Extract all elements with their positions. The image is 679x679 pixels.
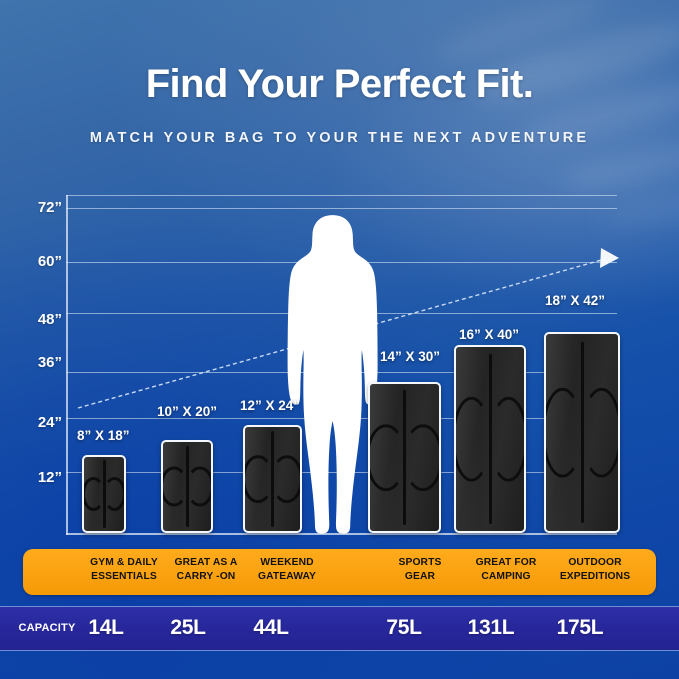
- bag-dimension-label: 12” X 24”: [240, 398, 300, 413]
- bag-dimension-label: 18” X 42”: [545, 293, 605, 308]
- capacity-value-4: 75L: [368, 616, 440, 640]
- capacity-value-5: 131L: [452, 616, 530, 640]
- category-weekend-gateaway: WEEKEND GATEAWAY: [231, 556, 343, 583]
- bag-bar-44L[interactable]: [243, 425, 302, 533]
- bag-strap-icon: [271, 431, 274, 527]
- category-bar: GYM & DAILY ESSENTIALS GREAT AS A CARRY …: [23, 549, 656, 595]
- bag-bar-131L[interactable]: [454, 345, 526, 533]
- capacity-band: CAPACITY 14L 25L 44L 75L 131L 175L: [0, 606, 679, 651]
- bag-strap-icon: [403, 390, 406, 525]
- y-tick-label-60: 60”: [2, 253, 62, 270]
- bag-dimension-label: 14” X 30”: [380, 349, 440, 364]
- y-tick-label-12: 12”: [2, 469, 62, 486]
- category-line-2: EXPEDITIONS: [542, 570, 648, 584]
- bag-arc-right-icon: [581, 387, 620, 478]
- bag-bar-25L[interactable]: [161, 440, 213, 533]
- capacity-value-2: 25L: [152, 616, 224, 640]
- bag-strap-icon: [103, 460, 106, 528]
- bag-arc-left-icon: [544, 387, 583, 478]
- infographic-canvas: Find Your Perfect Fit. MATCH YOUR BAG TO…: [0, 0, 679, 679]
- bag-arc-right-icon: [403, 424, 441, 492]
- y-tick-label-36: 36”: [2, 354, 62, 371]
- bag-strap-icon: [186, 446, 189, 528]
- bag-arc-right-icon: [103, 477, 126, 511]
- bag-arc-left-icon: [454, 397, 491, 482]
- bag-dimension-label: 10” X 20”: [157, 404, 217, 419]
- bag-arc-left-icon: [243, 455, 274, 503]
- y-tick-label-72: 72”: [2, 199, 62, 216]
- bag-dimension-label: 16” X 40”: [459, 327, 519, 342]
- category-line-1: WEEKEND: [231, 556, 343, 570]
- bag-arc-left-icon: [368, 424, 406, 492]
- y-tick-label-48: 48”: [2, 311, 62, 328]
- gridline-72in: [66, 208, 617, 209]
- bag-arc-right-icon: [186, 466, 213, 507]
- y-tick-label-24: 24”: [2, 414, 62, 431]
- bag-bar-175L[interactable]: [544, 332, 620, 533]
- bag-bar-14L[interactable]: [82, 455, 126, 533]
- category-outdoor-expeditions: OUTDOOR EXPEDITIONS: [542, 556, 648, 583]
- bag-strap-icon: [581, 342, 584, 523]
- bag-dimension-label: 8” X 18”: [77, 428, 130, 443]
- y-axis-line: [66, 195, 68, 535]
- capacity-value-3: 44L: [235, 616, 307, 640]
- category-line-1: OUTDOOR: [542, 556, 648, 570]
- gridline: [66, 195, 617, 196]
- category-line-2: GATEAWAY: [231, 570, 343, 584]
- bag-arc-left-icon: [161, 466, 188, 507]
- bag-strap-icon: [489, 354, 492, 523]
- bag-arc-right-icon: [489, 397, 526, 482]
- bag-arc-left-icon: [82, 477, 105, 511]
- bag-arc-right-icon: [271, 455, 302, 503]
- capacity-value-6: 175L: [540, 616, 620, 640]
- bag-bar-75L[interactable]: [368, 382, 441, 533]
- capacity-value-1: 14L: [70, 616, 142, 640]
